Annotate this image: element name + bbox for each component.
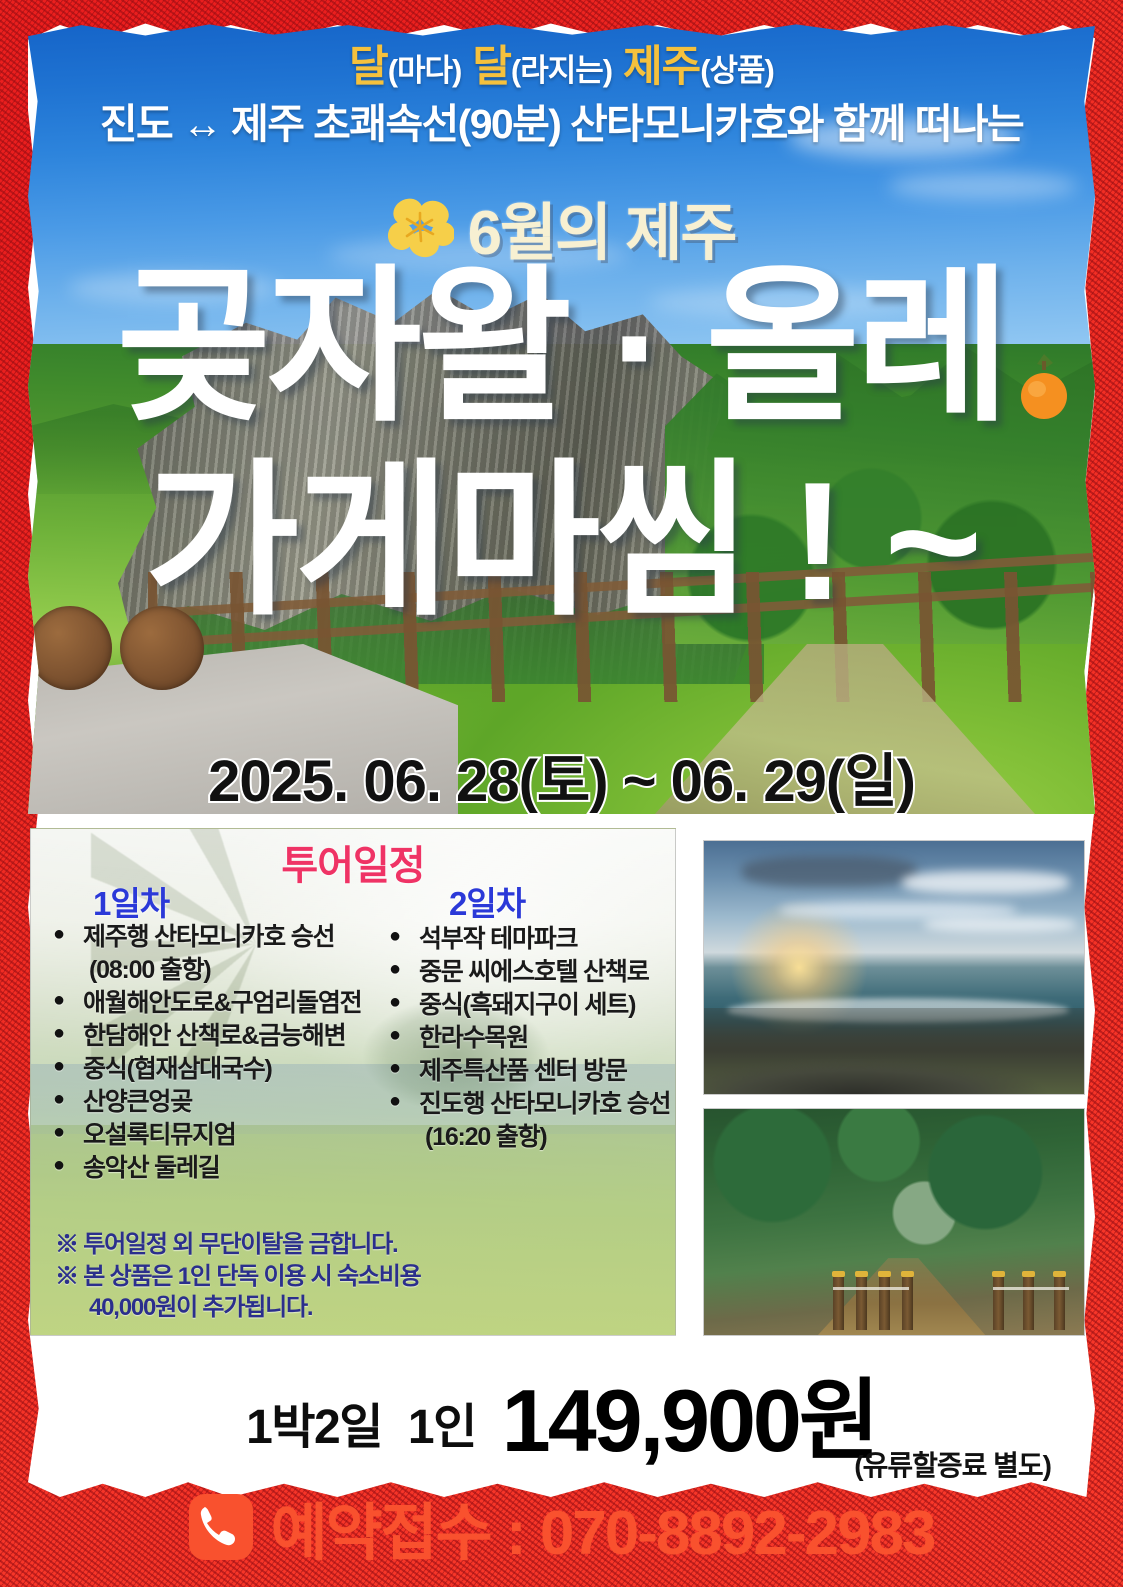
brand-tagline-part3: 제주: [623, 43, 700, 91]
list-item: 중식(협재삼대국수): [49, 1053, 379, 1085]
jeju-coast-sunset-photo: [703, 840, 1085, 1095]
route-subtitle: 진도 ↔ 제주 초쾌속선(90분) 산타모니카호와 함께 떠나는: [28, 104, 1095, 145]
list-item: 석부작 테마파크: [385, 923, 676, 955]
list-item: (16:20 출항): [385, 1121, 676, 1153]
hero-text-overlay: 달(마다) 달(라지는) 제주(상품) 진도 ↔ 제주 초쾌속선(90분) 산타…: [28, 22, 1095, 814]
rope-railing: [993, 1287, 1069, 1290]
list-item: 산양큰엉곶: [49, 1086, 379, 1118]
day1-item-list: 제주행 산타모니카호 승선 (08:00 출항) 애월해안도로&구엄리돌염전 한…: [49, 921, 379, 1185]
headline-line-1: 곶자왈 · 올레: [28, 268, 1095, 428]
jeju-tour-poster: 달(마다) 달(라지는) 제주(상품) 진도 ↔ 제주 초쾌속선(90분) 산타…: [0, 0, 1123, 1587]
cloud-shape: [902, 871, 1069, 894]
list-item: 한담해안 산책로&금능해변: [49, 1020, 379, 1052]
sunset-seascape: [704, 841, 1084, 1094]
list-item: 제주행 산타모니카호 승선: [49, 921, 379, 953]
list-item: 진도행 산타모니카호 승선: [385, 1088, 676, 1120]
note-line: ※ 투어일정 외 무단이탈을 금합니다.: [55, 1229, 615, 1260]
fuel-surcharge-note: (유류할증료 별도): [854, 1444, 1051, 1484]
rope-railing: [833, 1287, 909, 1290]
reservation-phone[interactable]: 예약접수 : 070-8892-2983: [271, 1482, 935, 1572]
itinerary-notes: ※ 투어일정 외 무단이탈을 금합니다. ※ 본 상품은 1인 단독 이용 시 …: [55, 1229, 615, 1323]
cloud-shape: [924, 917, 1076, 932]
itinerary-panel: 투어일정 1일차 제주행 산타모니카호 승선 (08:00 출항) 애월해안도로…: [30, 828, 676, 1336]
day2-item-list: 석부작 테마파크 중문 씨에스호텔 산책로 중식(흑돼지구이 세트) 한라수목원…: [385, 923, 676, 1154]
hero-image-seongsan-ilchulbong: 달(마다) 달(라지는) 제주(상품) 진도 ↔ 제주 초쾌속선(90분) 산타…: [28, 22, 1095, 814]
brand-tagline-part1-paren: (마다): [388, 53, 462, 88]
list-item: 애월해안도로&구엄리돌염전: [49, 987, 379, 1019]
cloud-shape: [742, 856, 917, 886]
tangerine-icon: [1013, 352, 1075, 420]
day1-heading: 1일차: [93, 877, 169, 925]
trip-duration: 1박2일: [246, 1387, 382, 1463]
travel-dates: 2025. 06. 28(토) ~ 06. 29(일): [28, 734, 1095, 814]
per-person-label: 1인: [408, 1387, 476, 1463]
brand-tagline-part1: 달: [349, 43, 388, 91]
list-item: 오설록티뮤지엄: [49, 1119, 379, 1151]
brand-tagline-part3-paren: (상품): [700, 53, 774, 88]
basalt-rocks: [704, 1008, 1084, 1094]
note-line: ※ 본 상품은 1인 단독 이용 시 숙소비용: [55, 1261, 615, 1292]
list-item: (08:00 출항): [49, 954, 379, 986]
flower-icon: [388, 196, 454, 258]
contact-row[interactable]: 예약접수 : 070-8892-2983: [0, 1486, 1123, 1568]
price-amount: 149,900원: [502, 1379, 877, 1463]
forest-canopy: [704, 1109, 1084, 1335]
brand-tagline: 달(마다) 달(라지는) 제주(상품): [28, 46, 1095, 89]
brand-tagline-part2-paren: (라지는): [511, 53, 612, 88]
list-item: 한라수목원: [385, 1022, 676, 1054]
phone-icon[interactable]: [189, 1494, 253, 1560]
list-item: 송악산 둘레길: [49, 1152, 379, 1184]
brand-tagline-part2: 달: [472, 43, 511, 91]
gotjawal-forest-trail-photo: [703, 1108, 1085, 1336]
list-item: 중문 씨에스호텔 산책로: [385, 956, 676, 988]
list-item: 제주특산품 센터 방문: [385, 1055, 676, 1087]
list-item: 중식(흑돼지구이 세트): [385, 989, 676, 1021]
note-line: 40,000원이 추가됩니다.: [55, 1292, 615, 1323]
headline-line-2: 가게마씸 ! ~: [28, 462, 1095, 622]
day2-heading: 2일차: [449, 877, 525, 925]
